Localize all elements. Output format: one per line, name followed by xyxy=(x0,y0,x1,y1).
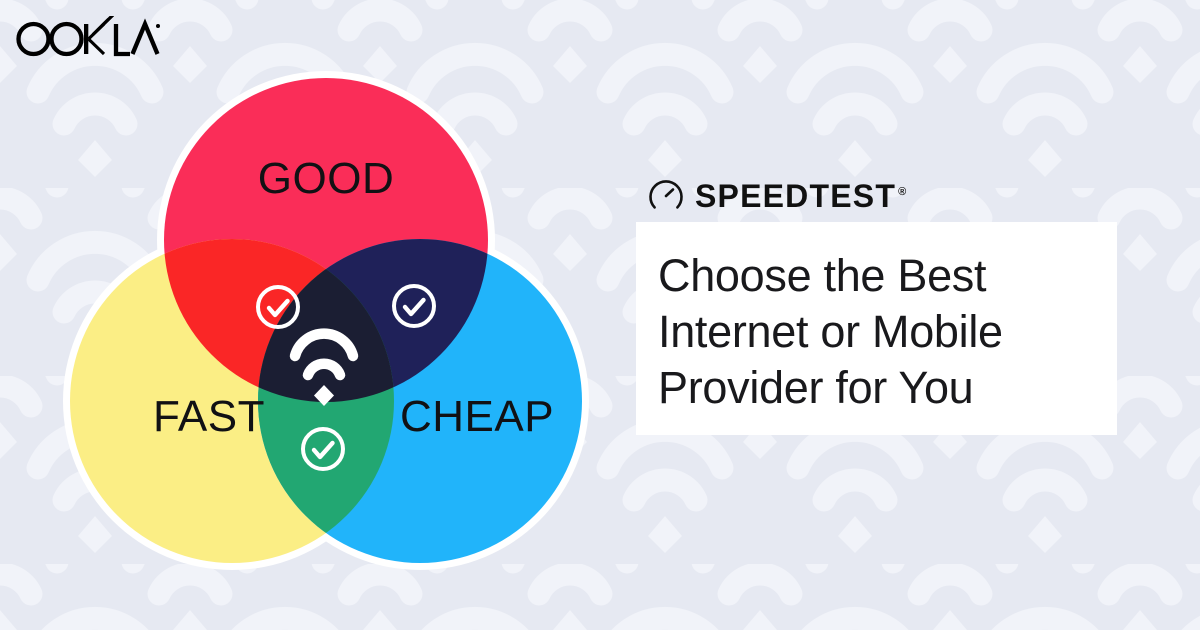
registered-mark: ® xyxy=(898,186,907,198)
speedometer-gauge-icon xyxy=(648,178,684,214)
headline-line-2: Internet or Mobile xyxy=(658,304,1117,360)
venn-diagram: GOOD FAST CHEAP xyxy=(46,56,606,576)
ookla-wordmark xyxy=(19,16,158,54)
headline-card: Choose the Best Internet or Mobile Provi… xyxy=(636,222,1117,435)
speedtest-wordmark: SPEEDTEST® xyxy=(695,180,907,212)
right-content-column: SPEEDTEST® Choose the Best Internet or M… xyxy=(636,170,1126,435)
speedtest-logo: SPEEDTEST® xyxy=(648,170,1126,222)
ookla-logo xyxy=(14,16,160,62)
headline-line-3: Provider for You xyxy=(658,360,1117,416)
headline-line-1: Choose the Best xyxy=(658,248,1117,304)
venn-label-fast: FAST xyxy=(153,392,265,441)
speedtest-wordmark-text: SPEEDTEST xyxy=(695,178,896,214)
venn-label-good: GOOD xyxy=(258,154,394,203)
venn-label-cheap: CHEAP xyxy=(400,392,554,441)
registered-mark-icon xyxy=(156,24,160,28)
